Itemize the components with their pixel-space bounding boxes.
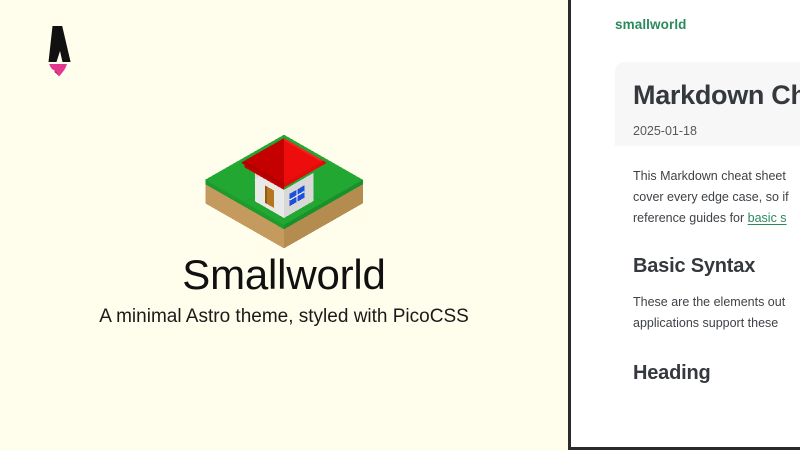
isometric-house-illustration	[0, 118, 568, 254]
post-title: Markdown Ch	[633, 80, 800, 111]
screenshot-root: Smallworld A minimal Astro theme, styled…	[0, 0, 800, 450]
intro-line-2: cover every edge case, so if	[633, 187, 800, 208]
post-card[interactable]: Markdown Ch 2025-01-18 This Markdown che…	[615, 62, 800, 428]
page-subtitle: A minimal Astro theme, styled with PicoC…	[0, 305, 568, 330]
basic-syntax-line-1: These are the elements out	[633, 292, 800, 313]
intro-line-1: This Markdown cheat sheet	[633, 166, 800, 187]
section-heading-basic-syntax: Basic Syntax	[633, 255, 800, 278]
page-title: Smallworld	[0, 252, 568, 298]
astro-logo-icon	[32, 22, 88, 86]
site-brand-link[interactable]: smallworld	[615, 17, 687, 32]
theme-preview-panel: smallworld Markdown Ch 2025-01-18 This M…	[568, 0, 800, 450]
post-date: 2025-01-18	[633, 124, 697, 138]
post-card-body: This Markdown cheat sheet cover every ed…	[615, 146, 800, 428]
basic-syntax-link[interactable]: basic s	[748, 211, 787, 225]
basic-syntax-line-2: applications support these	[633, 313, 800, 334]
section-heading-heading: Heading	[633, 362, 800, 385]
post-intro-paragraph: This Markdown cheat sheet cover every ed…	[633, 166, 800, 229]
intro-line-3: reference guides for basic s	[633, 208, 800, 229]
hero-panel: Smallworld A minimal Astro theme, styled…	[0, 0, 568, 450]
intro-line-3-text: reference guides for	[633, 211, 748, 225]
post-card-header: Markdown Ch 2025-01-18	[615, 62, 800, 146]
basic-syntax-paragraph: These are the elements out applications …	[633, 292, 800, 334]
